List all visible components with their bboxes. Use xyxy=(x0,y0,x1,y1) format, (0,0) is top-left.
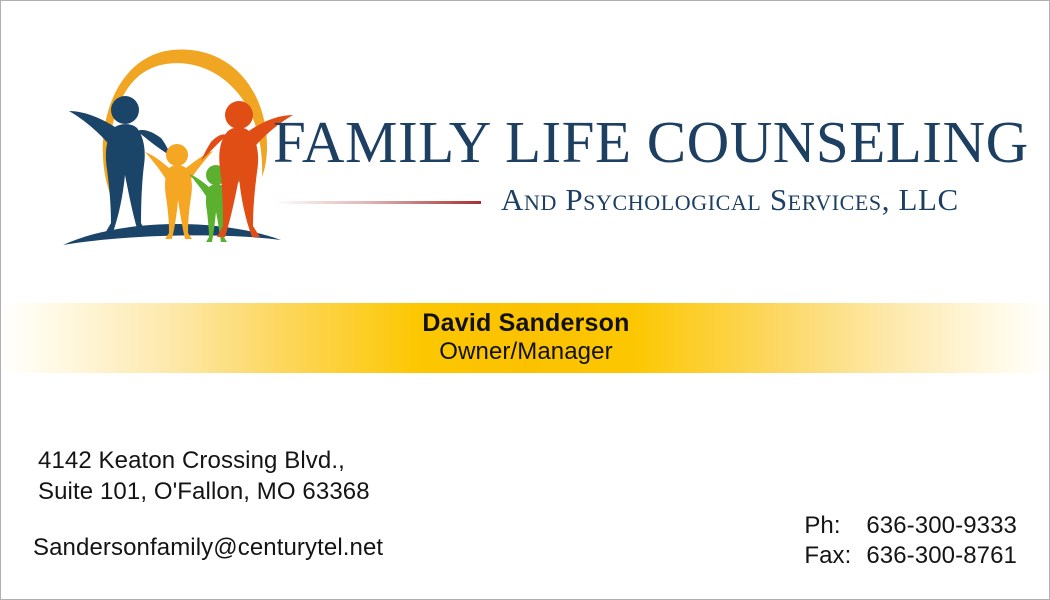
address-line-1: 4142 Keaton Crossing Blvd., xyxy=(38,445,370,476)
logo-header: FAMILY LIFE COUNSELING And Psychological… xyxy=(1,1,1050,301)
fax-row: Fax: 636-300-8761 xyxy=(804,541,1017,571)
person-role: Owner/Manager xyxy=(439,338,612,367)
family-logo-icon xyxy=(49,23,299,268)
phone-row: Ph: 636-300-9333 xyxy=(804,511,1017,541)
phone-label: Ph: xyxy=(804,511,866,541)
address-line-2: Suite 101, O'Fallon, MO 63368 xyxy=(38,476,370,507)
name-band: David Sanderson Owner/Manager xyxy=(1,303,1050,373)
company-name: FAMILY LIFE COUNSELING xyxy=(273,113,1033,172)
person-name: David Sanderson xyxy=(422,309,629,339)
logo-wordmark: FAMILY LIFE COUNSELING And Psychological… xyxy=(273,113,1033,228)
email-address[interactable]: Sandersonfamily@centurytel.net xyxy=(33,534,383,561)
tagline-row: And Psychological Services, LLC xyxy=(273,184,1033,216)
address-block: 4142 Keaton Crossing Blvd., Suite 101, O… xyxy=(38,445,370,507)
tagline-rule xyxy=(273,201,481,204)
email-block[interactable]: Sandersonfamily@centurytel.net xyxy=(33,534,383,562)
phone-block: Ph: 636-300-9333 Fax: 636-300-8761 xyxy=(804,511,1017,571)
business-card: FAMILY LIFE COUNSELING And Psychological… xyxy=(0,0,1050,600)
fax-label: Fax: xyxy=(804,541,866,571)
phone-number[interactable]: 636-300-9333 xyxy=(866,511,1017,541)
adult-left-figure xyxy=(69,96,171,235)
company-tagline: And Psychological Services, LLC xyxy=(501,184,959,216)
fax-number: 636-300-8761 xyxy=(866,541,1017,571)
